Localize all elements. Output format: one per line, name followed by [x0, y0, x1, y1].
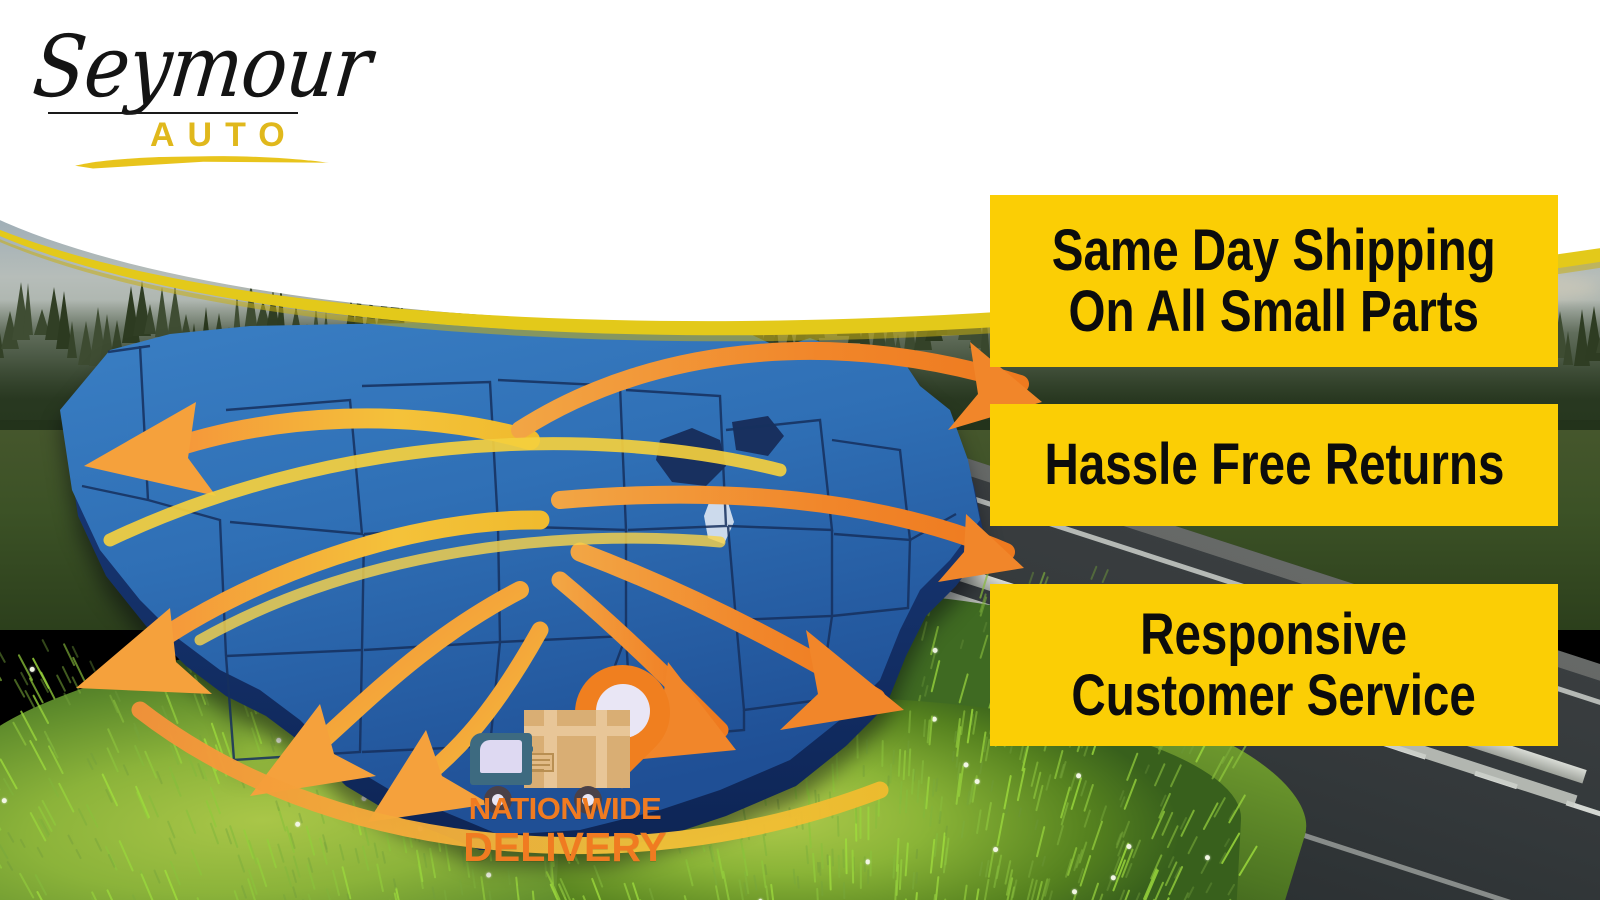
brand-name: Seymour: [29, 17, 376, 117]
grass-blade: [983, 879, 989, 900]
pine-tree: [1596, 324, 1600, 353]
box-tape: [544, 710, 557, 788]
cloud: [340, 150, 640, 194]
grass-blade: [140, 873, 155, 900]
grass-blade: [532, 890, 537, 900]
brand-logo[interactable]: Seymour AUTO: [30, 16, 350, 176]
grass-blade: [7, 832, 15, 843]
grass-blade: [0, 844, 9, 860]
truck-mirror: [523, 746, 533, 752]
claim-box-hassle-free-returns: Hassle Free Returns: [990, 404, 1558, 526]
grass-blade: [793, 869, 796, 885]
grass-blade: [241, 885, 247, 899]
truck-cargo-box: [524, 710, 630, 788]
grass-blade: [292, 886, 297, 898]
cloud: [560, 240, 960, 276]
box-tape: [524, 726, 630, 736]
claim-box-same-day-shipping: Same Day Shipping On All Small Parts: [990, 195, 1558, 367]
grass-blade: [307, 893, 315, 900]
grass-blade: [632, 882, 644, 900]
grass-blade: [488, 890, 492, 900]
brand-subtitle: AUTO: [150, 116, 298, 155]
grass-blade: [0, 880, 4, 900]
grass-blade: [0, 881, 3, 900]
grass-blade: [106, 889, 122, 900]
promo-banner: NATIONWIDE DELIVERY Seymour AUTO Same Da…: [0, 0, 1600, 900]
grass-blade: [332, 870, 340, 897]
claim-box-responsive-customer-service: Responsive Customer Service: [990, 584, 1558, 746]
grass-blade: [432, 886, 436, 899]
grass-blade: [0, 648, 6, 663]
grass-blade: [715, 885, 722, 900]
grass-blade: [6, 861, 13, 872]
delivery-label: DELIVERY: [450, 827, 680, 868]
grass-blade: [283, 894, 289, 900]
truck-window: [480, 740, 522, 773]
grass-blade: [913, 892, 918, 900]
claim-text: Responsive Customer Service: [1072, 604, 1476, 727]
grass-blade: [582, 895, 595, 900]
grass-blade: [972, 888, 979, 900]
grass-blade: [0, 658, 2, 682]
wildflower: [2, 798, 7, 803]
grass-blade: [915, 872, 918, 884]
grass-blade: [962, 885, 968, 900]
claim-text: Hassle Free Returns: [1044, 434, 1504, 495]
delivery-truck-group: NATIONWIDE DELIVERY: [450, 655, 680, 875]
claims-panel: Same Day Shipping On All Small Parts Has…: [990, 0, 1590, 900]
grass-blade: [0, 768, 1, 791]
truck-cab: [470, 733, 532, 785]
grass-blade: [459, 879, 463, 895]
claim-text: Same Day Shipping On All Small Parts: [1052, 220, 1496, 343]
grass-blade: [684, 895, 693, 900]
grass-blade: [0, 805, 2, 831]
grass-blade: [518, 885, 521, 895]
nationwide-label: NATIONWIDE: [450, 793, 680, 824]
grass-blade: [770, 884, 776, 900]
grass-blade: [19, 872, 35, 898]
box-tape: [596, 710, 607, 788]
brand-underline: [48, 112, 298, 114]
grass-blade: [393, 878, 397, 889]
cloud: [700, 180, 1030, 220]
grass-blade: [843, 882, 845, 899]
grass-blade: [797, 876, 800, 889]
nationwide-map-graphic: NATIONWIDE DELIVERY: [20, 290, 1040, 870]
grass-blade: [132, 894, 141, 900]
grass-blade: [326, 888, 333, 900]
grass-blade: [480, 876, 486, 900]
grass-blade: [931, 894, 936, 900]
grass-blade: [395, 887, 404, 900]
grass-blade: [153, 869, 161, 884]
grass-blade: [649, 888, 656, 900]
grass-blade: [821, 881, 824, 896]
grass-blade: [753, 875, 757, 891]
brand-swoosh: [64, 156, 354, 172]
grass-blade: [444, 890, 449, 900]
grass-blade: [816, 888, 819, 900]
